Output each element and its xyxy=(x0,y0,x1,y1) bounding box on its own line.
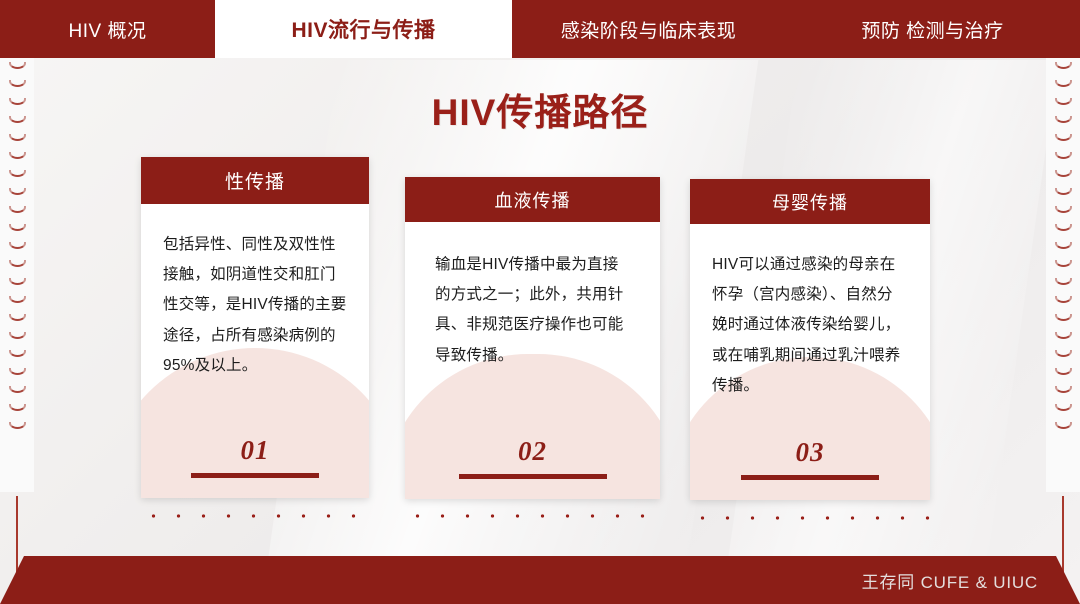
card-heading: 血液传播 xyxy=(405,177,660,222)
card-description: 包括异性、同性及双性性接触，如阴道性交和肛门性交等，是HIV传播的主要途径，占所… xyxy=(141,204,369,381)
card-number: 02 xyxy=(518,438,547,465)
footer-credit: 王存同 CUFE & UIUC xyxy=(862,568,1080,593)
dotted-accent-line-1 xyxy=(141,514,366,518)
card-number: 01 xyxy=(241,437,270,464)
tab-label: 预防 检测与治疗 xyxy=(861,16,1003,43)
tab-label: 感染阶段与临床表现 xyxy=(561,16,737,43)
card-underline-bar xyxy=(459,474,607,479)
card-heading-label: 血液传播 xyxy=(495,187,571,213)
card-heading: 性传播 xyxy=(141,157,369,204)
card-footer: 02 xyxy=(405,438,660,479)
tab-label: HIV 概况 xyxy=(69,16,147,43)
footer-bar: 王存同 CUFE & UIUC xyxy=(0,556,1080,604)
card-footer: 01 xyxy=(141,437,369,478)
card-heading: 母婴传播 xyxy=(690,179,930,224)
card-sexual-transmission[interactable]: 性传播 包括异性、同性及双性性接触，如阴道性交和肛门性交等，是HIV传播的主要途… xyxy=(141,157,369,498)
card-underline-bar xyxy=(191,473,319,478)
card-heading-label: 母婴传播 xyxy=(772,189,848,215)
card-description: HIV可以通过感染的母亲在怀孕（宫内感染）、自然分娩时通过体液传染给婴儿，或在哺… xyxy=(690,224,930,401)
card-number: 03 xyxy=(796,439,825,466)
card-body: 输血是HIV传播中最为直接的方式之一；此外，共用针具、非规范医疗操作也可能导致传… xyxy=(405,222,660,499)
card-footer: 03 xyxy=(690,439,930,480)
dotted-accent-line-3 xyxy=(690,516,930,520)
card-description: 输血是HIV传播中最为直接的方式之一；此外，共用针具、非规范医疗操作也可能导致传… xyxy=(405,222,660,371)
tab-label: HIV流行与传播 xyxy=(291,14,435,44)
tab-prevention-testing-treatment[interactable]: 预防 检测与治疗 xyxy=(785,0,1080,58)
page-title: HIV传播路径 xyxy=(0,82,1080,136)
tab-infection-stages-clinical[interactable]: 感染阶段与临床表现 xyxy=(512,0,785,58)
dotted-accent-line-2 xyxy=(405,514,658,518)
card-body: HIV可以通过感染的母亲在怀孕（宫内感染）、自然分娩时通过体液传染给婴儿，或在哺… xyxy=(690,224,930,500)
card-underline-bar xyxy=(741,475,879,480)
card-body: 包括异性、同性及双性性接触，如阴道性交和肛门性交等，是HIV传播的主要途径，占所… xyxy=(141,204,369,498)
card-heading-label: 性传播 xyxy=(225,167,285,194)
card-mother-to-child-transmission[interactable]: 母婴传播 HIV可以通过感染的母亲在怀孕（宫内感染）、自然分娩时通过体液传染给婴… xyxy=(690,179,930,500)
top-tab-bar: HIV 概况 HIV流行与传播 感染阶段与临床表现 预防 检测与治疗 xyxy=(0,0,1080,58)
tab-hiv-epidemiology-transmission[interactable]: HIV流行与传播 xyxy=(215,0,512,58)
card-blood-transmission[interactable]: 血液传播 输血是HIV传播中最为直接的方式之一；此外，共用针具、非规范医疗操作也… xyxy=(405,177,660,499)
tab-hiv-overview[interactable]: HIV 概况 xyxy=(0,0,215,58)
